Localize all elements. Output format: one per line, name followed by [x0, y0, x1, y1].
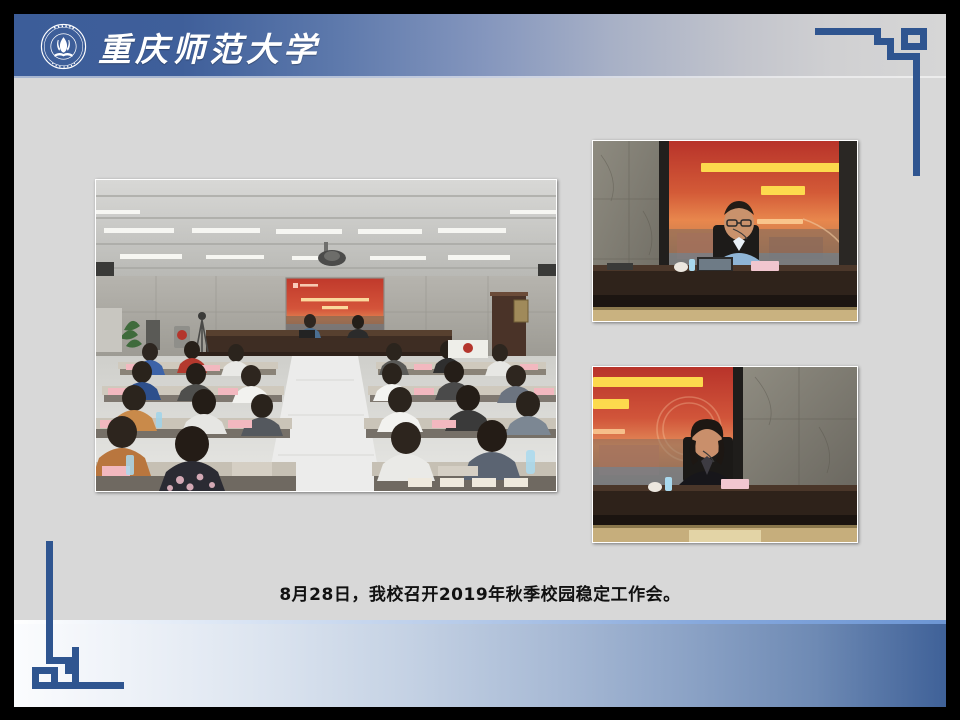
- photo-conference-hall-wide: [95, 179, 557, 492]
- presentation-slide: 重庆师范大学: [14, 14, 946, 707]
- university-seal-icon: [40, 23, 87, 70]
- photo-female-speaker: [592, 366, 858, 543]
- photo-male-speaker: [592, 140, 858, 322]
- slide-caption: 8月28日，我校召开2019年秋季校园稳定工作会。: [14, 580, 946, 605]
- footer-highlight-line: [14, 620, 946, 624]
- university-name: 重庆师范大学: [98, 25, 320, 69]
- corner-bracket-icon-bottom-left: [32, 541, 144, 689]
- slide-footer-band: [14, 620, 946, 707]
